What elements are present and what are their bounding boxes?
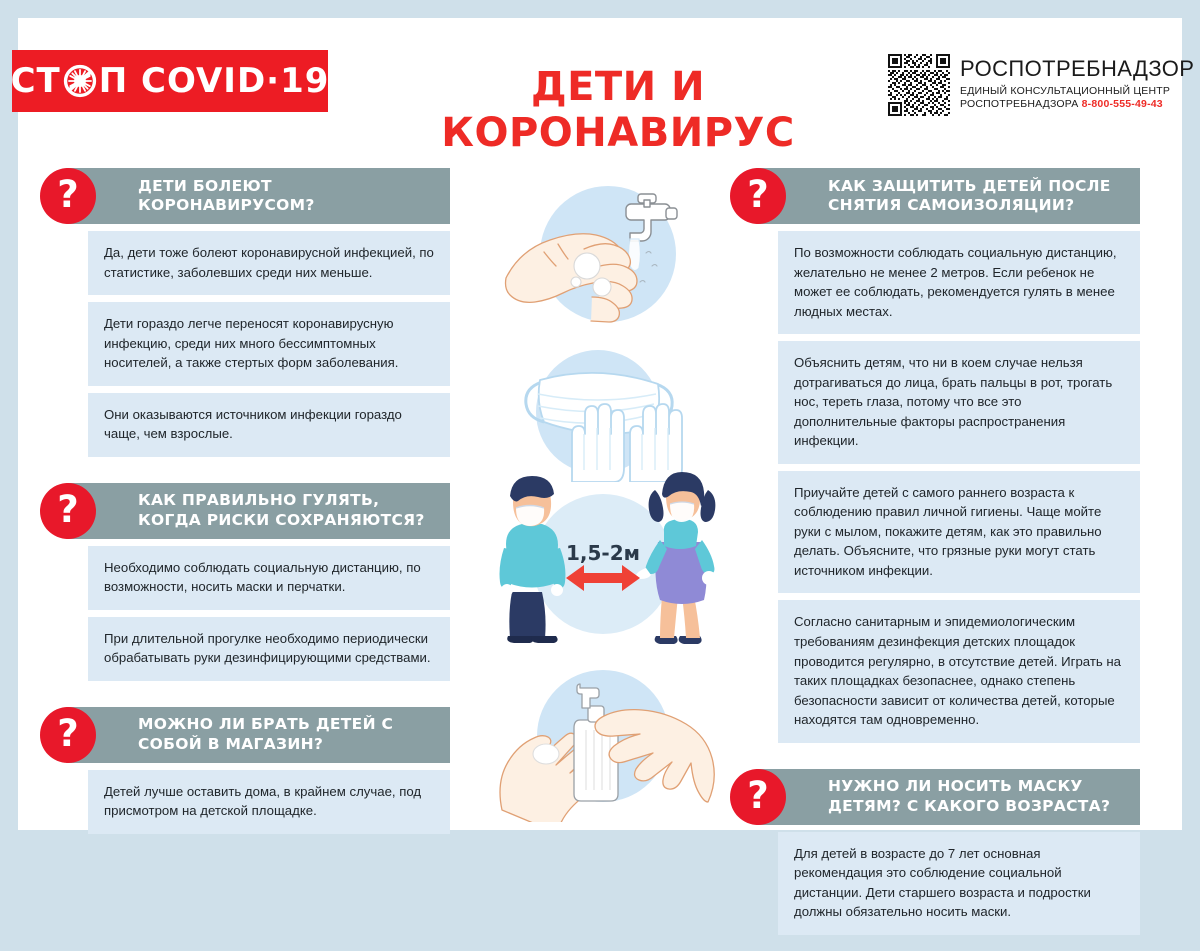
stop-covid-badge: СТ xyxy=(12,50,328,112)
question-mark-icon: ? xyxy=(40,168,96,224)
hand-sanitizer-illustration xyxy=(480,650,726,822)
right-column: ? КАК ЗАЩИТИТЬ ДЕТЕЙ ПОСЛЕ СНЯТИЯ САМОИЗ… xyxy=(730,168,1140,951)
poster: СТ xyxy=(18,18,1182,830)
faq-answer: Объяснить детям, что ни в коем случае не… xyxy=(778,341,1140,464)
faq-answer: Для детей в возрасте до 7 лет основная р… xyxy=(778,832,1140,935)
faq-answer: По возможности соблюдать социальную дист… xyxy=(778,231,1140,334)
qr-code-icon xyxy=(888,54,950,116)
faq-answer: Детей лучше оставить дома, в крайнем слу… xyxy=(88,770,450,834)
faq-block: ? МОЖНО ЛИ БРАТЬ ДЕТЕЙ С СОБОЙ В МАГАЗИН… xyxy=(40,707,450,834)
virus-no-entry-icon xyxy=(63,64,97,98)
faq-answer: Приучайте детей с самого раннего возраст… xyxy=(778,471,1140,594)
faq-block: ? КАК ПРАВИЛЬНО ГУЛЯТЬ, КОГДА РИСКИ СОХР… xyxy=(40,483,450,681)
faq-answer: Согласно санитарным и эпидемиологическим… xyxy=(778,600,1140,742)
question-mark-icon: ? xyxy=(730,769,786,825)
faq-question-text: ДЕТИ БОЛЕЮТ КОРОНАВИРУСОМ? xyxy=(138,177,438,216)
page-title: ДЕТИ И КОРОНАВИРУС xyxy=(368,64,868,156)
faq-question-header: ? КАК ПРАВИЛЬНО ГУЛЯТЬ, КОГДА РИСКИ СОХР… xyxy=(66,483,450,539)
faq-answer: При длительной прогулке необходимо перио… xyxy=(88,617,450,681)
question-mark-icon: ? xyxy=(40,707,96,763)
faq-answer: Необходимо соблюдать социальную дистанци… xyxy=(88,546,450,610)
faq-question-header: ? МОЖНО ЛИ БРАТЬ ДЕТЕЙ С СОБОЙ В МАГАЗИН… xyxy=(66,707,450,763)
consultation-center-org: РОСПОТРЕБНАДЗОРА xyxy=(960,98,1079,110)
faq-question-header: ? НУЖНО ЛИ НОСИТЬ МАСКУ ДЕТЯМ? С КАКОГО … xyxy=(756,769,1140,825)
rospotrebnadzor-block: РОСПОТРЕБНАДЗОР ЕДИНЫЙ КОНСУЛЬТАЦИОННЫЙ … xyxy=(888,54,1194,116)
faq-block: ? КАК ЗАЩИТИТЬ ДЕТЕЙ ПОСЛЕ СНЯТИЯ САМОИЗ… xyxy=(730,168,1140,743)
faq-answer: Да, дети тоже болеют коронавирусной инфе… xyxy=(88,231,450,295)
faq-block: ? НУЖНО ЛИ НОСИТЬ МАСКУ ДЕТЯМ? С КАКОГО … xyxy=(730,769,1140,935)
hotline-phone-number: 8-800-555-49-43 xyxy=(1082,98,1163,110)
center-illustrations: 1,5-2м xyxy=(480,168,726,828)
faq-answer: Они оказываются источником инфекции гора… xyxy=(88,393,450,457)
faq-question-text: КАК ЗАЩИТИТЬ ДЕТЕЙ ПОСЛЕ СНЯТИЯ САМОИЗОЛ… xyxy=(828,177,1128,216)
social-distance-illustration: 1,5-2м xyxy=(480,468,726,648)
distance-label: 1,5-2м xyxy=(566,541,640,565)
faq-question-text: КАК ПРАВИЛЬНО ГУЛЯТЬ, КОГДА РИСКИ СОХРАН… xyxy=(138,491,438,530)
faq-question-text: НУЖНО ЛИ НОСИТЬ МАСКУ ДЕТЯМ? С КАКОГО ВО… xyxy=(828,777,1128,816)
man-figure xyxy=(500,476,566,643)
rospotrebnadzor-name: РОСПОТРЕБНАДЗОР xyxy=(960,56,1194,82)
rospotrebnadzor-texts: РОСПОТРЕБНАДЗОР ЕДИНЫЙ КОНСУЛЬТАЦИОННЫЙ … xyxy=(960,54,1194,110)
consultation-center-phone-line: РОСПОТРЕБНАДЗОРА 8-800-555-49-43 xyxy=(960,98,1194,110)
faq-block: ? ДЕТИ БОЛЕЮТ КОРОНАВИРУСОМ? Да, дети то… xyxy=(40,168,450,457)
stop-badge-suffix: П COVID·19 xyxy=(99,61,330,101)
question-mark-icon: ? xyxy=(730,168,786,224)
consultation-center-label: ЕДИНЫЙ КОНСУЛЬТАЦИОННЫЙ ЦЕНТР xyxy=(960,85,1194,97)
stop-badge-prefix: СТ xyxy=(11,61,61,101)
faq-answer: Дети гораздо легче переносят коронавирус… xyxy=(88,302,450,386)
left-column: ? ДЕТИ БОЛЕЮТ КОРОНАВИРУСОМ? Да, дети то… xyxy=(40,168,450,850)
faq-question-header: ? КАК ЗАЩИТИТЬ ДЕТЕЙ ПОСЛЕ СНЯТИЯ САМОИЗ… xyxy=(756,168,1140,224)
question-mark-icon: ? xyxy=(40,483,96,539)
faq-question-header: ? ДЕТИ БОЛЕЮТ КОРОНАВИРУСОМ? xyxy=(66,168,450,224)
handwashing-under-tap-illustration xyxy=(480,170,726,338)
faq-question-text: МОЖНО ЛИ БРАТЬ ДЕТЕЙ С СОБОЙ В МАГАЗИН? xyxy=(138,715,438,754)
mask-and-gloves-illustration xyxy=(480,342,726,482)
stop-covid-badge-text: СТ xyxy=(11,61,330,101)
poster-header: СТ xyxy=(18,18,1182,146)
